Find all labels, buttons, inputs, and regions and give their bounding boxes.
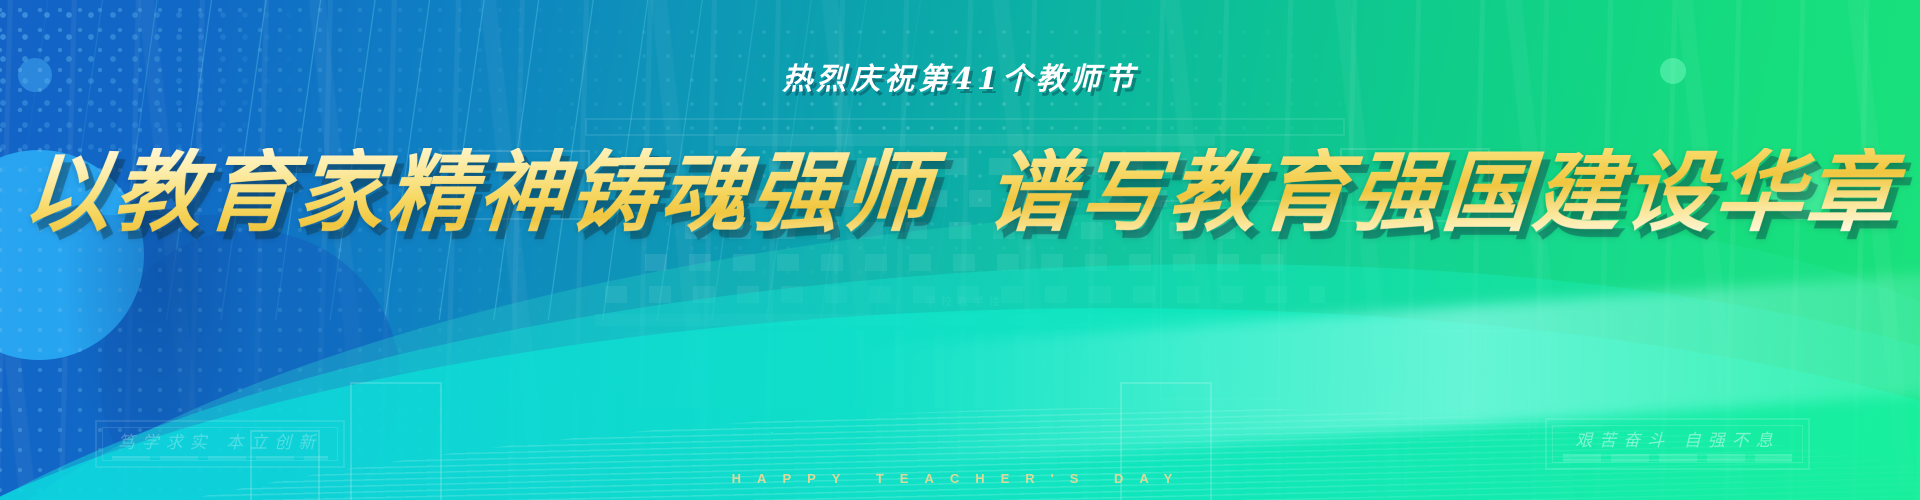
- headline-part-1: 以教育家精神铸魂强师: [19, 140, 936, 244]
- english-tagline: HAPPY TEACHER'S DAY: [0, 471, 1920, 486]
- motto-right-text: 艰苦奋斗 自强不息: [1575, 426, 1779, 451]
- teachers-day-banner: 学校教学楼 热烈庆祝第41个教师节 以教育家精神铸魂强师谱写教育强国建设华章 ·…: [0, 0, 1920, 500]
- building-column-5: [1015, 330, 1024, 408]
- motto-panel-left: 笃学求实 本立创新: [95, 420, 345, 468]
- building-roof-line: [585, 118, 1345, 136]
- celebration-subtitle: 热烈庆祝第41个教师节: [0, 54, 1920, 98]
- motto-left-text: 笃学求实 本立创新: [118, 428, 322, 453]
- motto-panel-left-inner: 笃学求实 本立创新: [102, 427, 338, 461]
- building-sign-text: 学校教学楼: [880, 294, 1050, 310]
- main-headline: 以教育家精神铸魂强师谱写教育强国建设华章: [0, 148, 1920, 236]
- motto-right-filler-text: [1563, 454, 1792, 462]
- headline-part-2: 谱写教育强国建设华章: [983, 140, 1900, 244]
- building-outline-small-right: [1420, 330, 1530, 440]
- building-column-6: [1055, 330, 1064, 408]
- building-column-4: [975, 330, 984, 408]
- building-column-2: [895, 330, 904, 408]
- building-column-1: [855, 330, 864, 408]
- building-left-wing: [625, 332, 825, 408]
- motto-panel-right-inner: 艰苦奋斗 自强不息: [1552, 425, 1803, 463]
- motto-left-filler-text: [112, 456, 327, 460]
- building-column-3: [935, 330, 944, 408]
- motto-panel-right: 艰苦奋斗 自强不息: [1545, 418, 1810, 470]
- center-tiny-mark: ·: [770, 427, 779, 438]
